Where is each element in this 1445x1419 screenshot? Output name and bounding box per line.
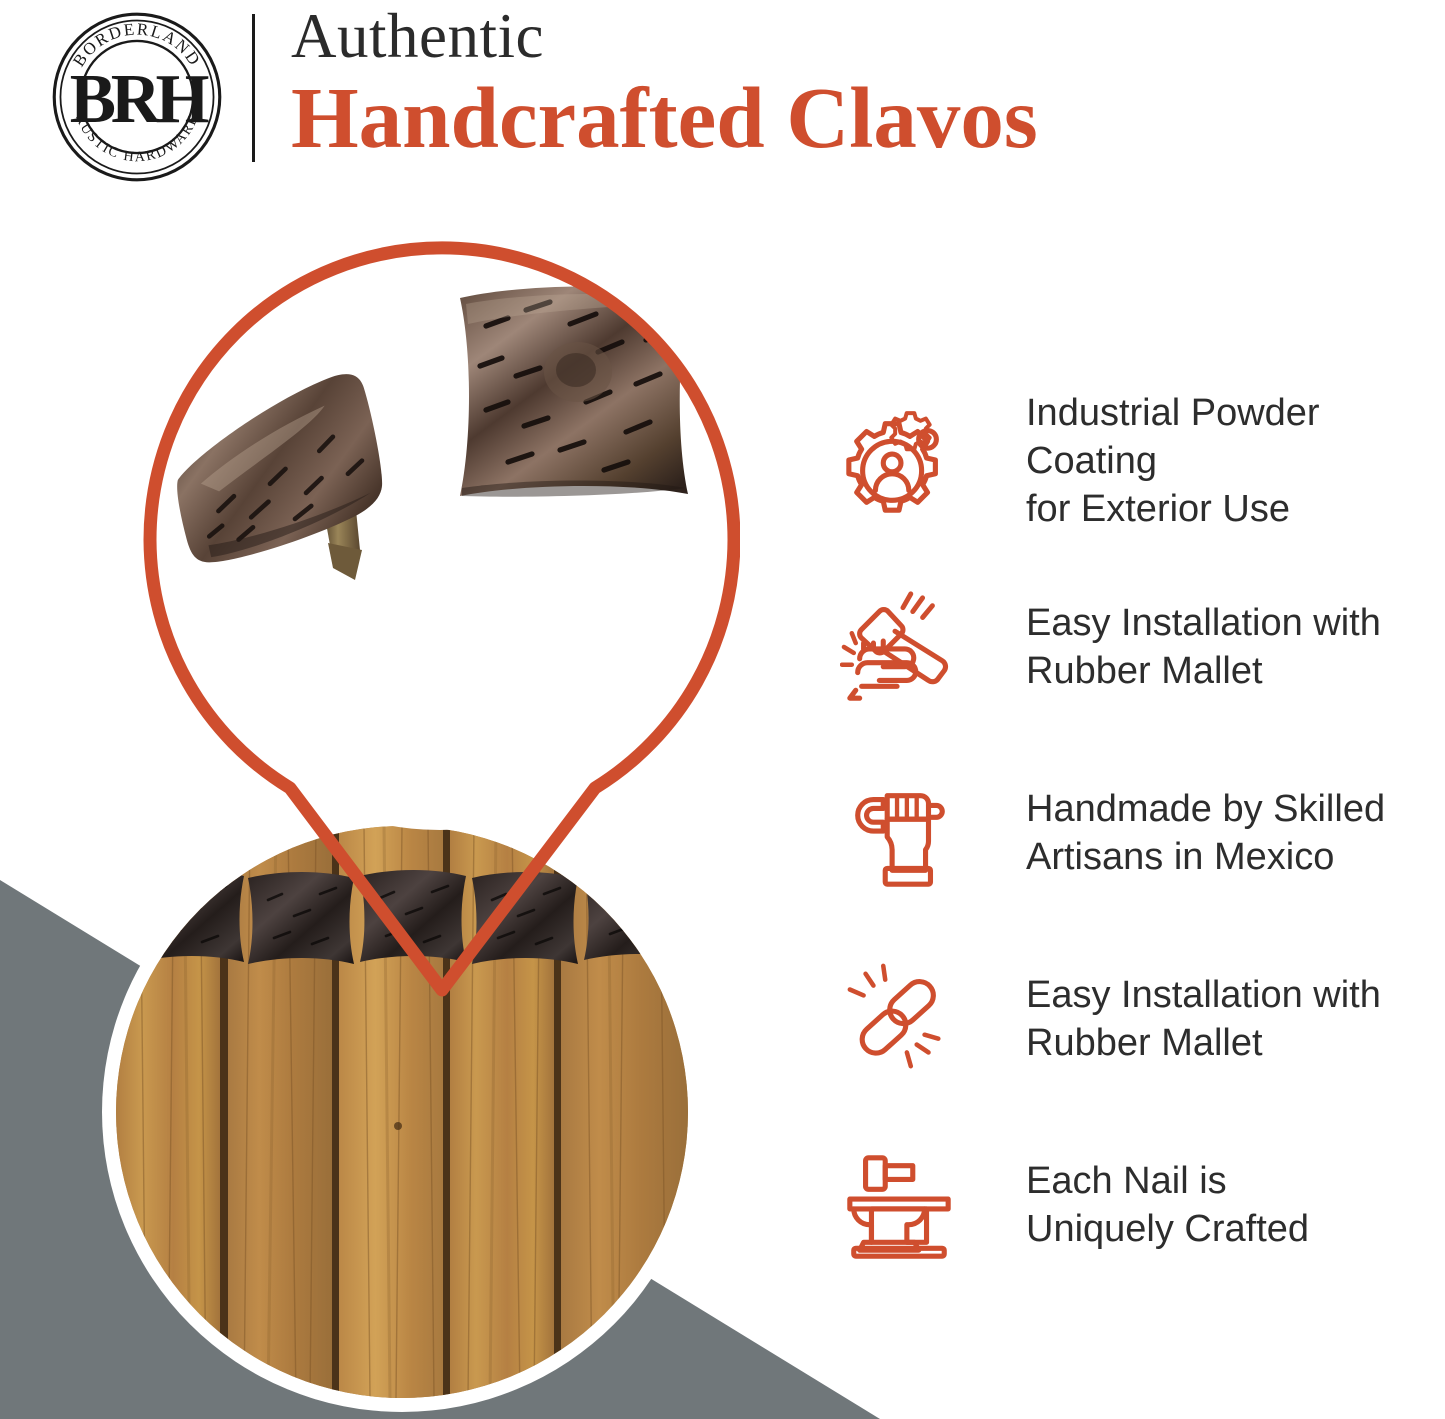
feature-label: Industrial Powder Coating for Exterior U… [1026,389,1438,533]
infographic-page: BORDERLAND RUSTIC HARDWARE BRH Authentic… [0,0,1445,1419]
industrial-gear-person-icon [838,400,960,522]
header: BORDERLAND RUSTIC HARDWARE BRH Authentic… [0,0,1445,190]
header-divider [252,14,255,162]
feature-label: Handmade by Skilled Artisans in Mexico [1026,785,1385,881]
product-callout-bubble [140,238,740,998]
feature-item: Easy Installation with Rubber Mallet [838,926,1438,1112]
svg-text:BRH: BRH [70,61,209,138]
hand-mallet-icon [838,586,960,708]
feature-label: Easy Installation with Rubber Mallet [1026,599,1381,695]
chain-links-icon [838,958,960,1080]
feature-item: Easy Installation with Rubber Mallet [838,554,1438,740]
anvil-hammer-icon [838,1144,960,1266]
title-block: Authentic Handcrafted Clavos [291,2,1038,166]
feature-item: Handmade by Skilled Artisans in Mexico [838,740,1438,926]
feature-label: Easy Installation with Rubber Mallet [1026,971,1381,1067]
borderland-rustic-hardware-logo-icon: BORDERLAND RUSTIC HARDWARE BRH [48,8,226,186]
feature-label: Each Nail is Uniquely Crafted [1026,1157,1309,1253]
page-title-authentic: Authentic [291,2,1038,70]
feature-item: Industrial Powder Coating for Exterior U… [838,368,1438,554]
feature-item: Each Nail is Uniquely Crafted [838,1112,1438,1298]
page-title-handcrafted-clavos: Handcrafted Clavos [291,70,1038,166]
fist-wrench-icon [838,772,960,894]
feature-list: Industrial Powder Coating for Exterior U… [838,368,1438,1298]
